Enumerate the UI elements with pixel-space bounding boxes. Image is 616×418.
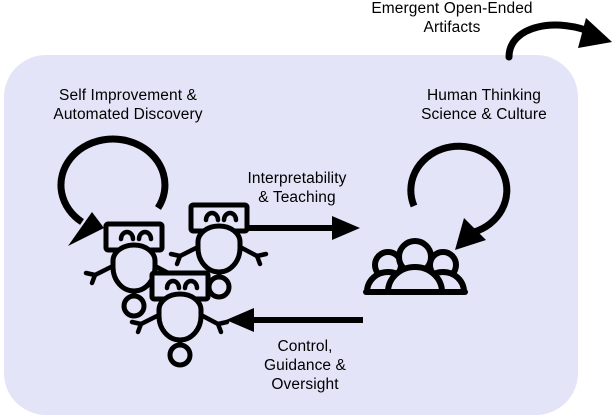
- label-human-thinking: Human Thinking Science & Culture: [384, 87, 584, 125]
- label-control-guidance-oversight: Control, Guidance & Oversight: [230, 338, 380, 395]
- label-emergent-artifacts: Emergent Open-Ended Artifacts: [344, 0, 560, 38]
- label-interpretability-teaching: Interpretability & Teaching: [213, 170, 381, 208]
- label-self-improvement: Self Improvement & Automated Discovery: [16, 87, 240, 125]
